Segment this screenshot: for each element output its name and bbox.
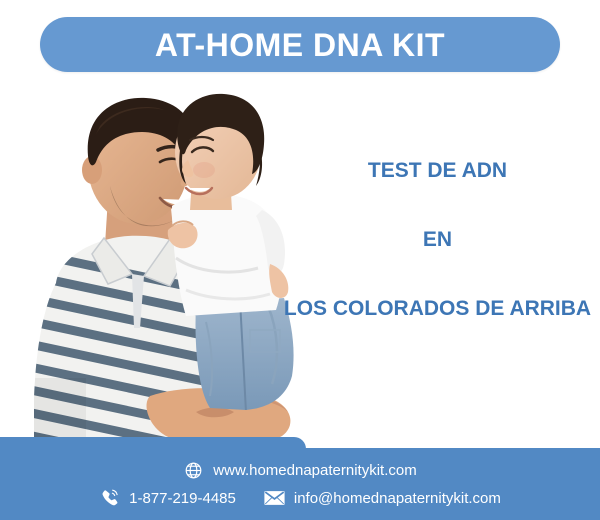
footer-row-phone-email: 1-877-219-4485 info@homednapaternitykit.… — [99, 488, 501, 509]
phone-icon — [99, 488, 120, 509]
phone-label: 1-877-219-4485 — [129, 491, 236, 506]
footer-content: www.homednapaternitykit.com 1-877-219-44… — [0, 448, 600, 520]
footer-row-website: www.homednapaternitykit.com — [183, 460, 416, 481]
headline-line-1: TEST DE ADN — [245, 160, 600, 181]
envelope-icon — [264, 488, 285, 509]
phone-contact[interactable]: 1-877-219-4485 — [99, 488, 236, 509]
promo-graphic: AT-HOME DNA KIT TEST DE ADN EN LOS COLOR… — [0, 0, 600, 520]
website-contact[interactable]: www.homednapaternitykit.com — [183, 460, 416, 481]
headline-line-2: EN — [245, 229, 600, 250]
title-banner: AT-HOME DNA KIT — [40, 17, 560, 72]
headline-block: TEST DE ADN EN LOS COLORADOS DE ARRIBA — [245, 160, 600, 319]
page-title: AT-HOME DNA KIT — [155, 29, 445, 61]
contact-footer: www.homednapaternitykit.com 1-877-219-44… — [0, 437, 600, 520]
email-contact[interactable]: info@homednapaternitykit.com — [264, 488, 501, 509]
email-label: info@homednapaternitykit.com — [294, 491, 501, 506]
headline-line-3: LOS COLORADOS DE ARRIBA — [245, 298, 600, 319]
website-label: www.homednapaternitykit.com — [213, 463, 416, 478]
globe-icon — [183, 460, 204, 481]
